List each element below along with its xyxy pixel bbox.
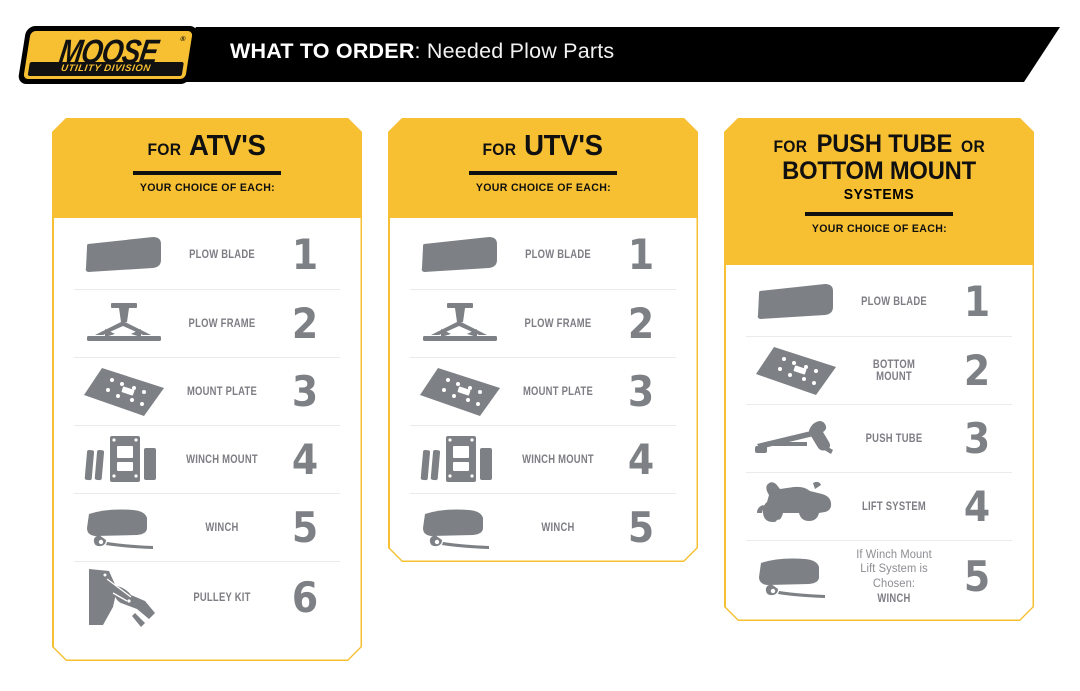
list-item-number: 2 (274, 303, 337, 345)
card-utvs-header: FOR UTV'S YOUR CHOICE OF EACH: (388, 118, 698, 218)
list-item-label: LIFT SYSTEM (855, 501, 934, 513)
list-item[interactable]: LIFT SYSTEM 4 (746, 472, 1012, 540)
list-item-label: WINCH MOUNT (519, 454, 598, 466)
list-item-number: 1 (946, 281, 1009, 323)
winch-icon (410, 506, 510, 550)
plow-frame-icon (410, 301, 510, 347)
plow-blade-icon (746, 282, 846, 322)
plow-frame-icon (74, 301, 174, 347)
card-utvs-rule (469, 171, 617, 175)
plow-blade-icon (74, 235, 174, 275)
list-item-label: MOUNT PLATE (183, 386, 262, 398)
list-item[interactable]: WINCH 5 (410, 493, 676, 561)
list-item-number: 3 (610, 371, 673, 413)
card-push-header: FOR PUSH TUBE OR BOTTOM MOUNT SYSTEMS YO… (724, 118, 1034, 265)
list-item[interactable]: WINCH MOUNT 4 (74, 425, 340, 493)
card-atvs: FOR ATV'S YOUR CHOICE OF EACH: PLOW BLAD… (52, 118, 362, 661)
card-push-heading-line3: SYSTEMS (735, 186, 1023, 203)
card-push-choice: YOUR CHOICE OF EACH: (811, 223, 946, 235)
list-item-number: 5 (274, 507, 337, 549)
card-atvs-heading: FOR ATV'S (52, 132, 362, 162)
list-item[interactable]: MOUNT PLATE 3 (74, 357, 340, 425)
list-item-label: PLOW BLADE (519, 249, 598, 261)
push-tube-icon (746, 418, 846, 460)
card-atvs-heading-main: ATV'S (189, 132, 266, 162)
card-utvs-heading-pre: FOR (482, 141, 516, 159)
list-item-number: 4 (610, 439, 673, 481)
list-item-label: PLOW FRAME (183, 318, 262, 330)
list-item-number: 5 (610, 507, 673, 549)
list-item[interactable]: PLOW BLADE 1 (74, 221, 340, 289)
mount-plate-icon (410, 366, 510, 418)
card-utvs-heading: FOR UTV'S (388, 132, 698, 162)
list-item-label: PUSH TUBE (855, 433, 934, 445)
cards-container: FOR ATV'S YOUR CHOICE OF EACH: PLOW BLAD… (0, 0, 1080, 691)
card-push-heading-line2-text: BOTTOM MOUNT (782, 159, 976, 185)
list-item[interactable]: If Winch Mount Lift System is Chosen: WI… (746, 540, 1012, 612)
card-utvs-heading-main: UTV'S (524, 132, 603, 162)
list-item-label: PLOW FRAME (519, 318, 598, 330)
infographic-page: WHAT TO ORDER: Needed Plow Parts MOOSE ®… (0, 0, 1080, 691)
list-item-label: PLOW BLADE (855, 296, 934, 308)
card-atvs-header: FOR ATV'S YOUR CHOICE OF EACH: (52, 118, 362, 218)
list-item-number: 1 (610, 234, 673, 276)
list-item-label: WINCH (519, 522, 598, 534)
list-item-label: WINCH (183, 522, 262, 534)
list-item-label: BOTTOM MOUNT (855, 359, 934, 383)
list-item[interactable]: MOUNT PLATE 3 (410, 357, 676, 425)
list-item[interactable]: WINCH MOUNT 4 (410, 425, 676, 493)
card-push-rule (805, 212, 953, 216)
card-atvs-rows: PLOW BLADE 1 PLOW FRAME 2 (74, 221, 340, 633)
lift-system-icon (746, 479, 846, 535)
card-push-heading-line1: FOR PUSH TUBE OR (724, 132, 1034, 158)
card-utvs: FOR UTV'S YOUR CHOICE OF EACH: PLOW BLAD… (388, 118, 698, 562)
list-item-label: WINCH MOUNT (183, 454, 262, 466)
card-push-heading-pre: FOR (773, 138, 807, 156)
list-item[interactable]: WINCH 5 (74, 493, 340, 561)
winch-icon (746, 555, 846, 599)
winch-mount-icon (74, 434, 174, 486)
card-push-tube-bottom-mount: FOR PUSH TUBE OR BOTTOM MOUNT SYSTEMS YO… (724, 118, 1034, 621)
card-atvs-rule (133, 171, 281, 175)
list-item-number: 5 (946, 556, 1009, 598)
card-push-heading-main: PUSH TUBE (817, 132, 953, 158)
list-item-label-group: If Winch Mount Lift System is Chosen: WI… (855, 548, 934, 605)
list-item-number: 4 (274, 439, 337, 481)
list-item[interactable]: PLOW BLADE 1 (410, 221, 676, 289)
list-item-number: 3 (946, 418, 1009, 460)
list-item[interactable]: PUSH TUBE 3 (746, 404, 1012, 472)
list-item-label: PULLEY KIT (183, 592, 262, 604)
list-item-number: 1 (274, 234, 337, 276)
list-item-label: PLOW BLADE (183, 249, 262, 261)
card-push-heading-or: OR (961, 138, 985, 156)
card-push-heading-line2: BOTTOM MOUNT (724, 159, 1034, 185)
list-item-label: MOUNT PLATE (519, 386, 598, 398)
list-item[interactable]: PLOW FRAME 2 (410, 289, 676, 357)
list-item[interactable]: PULLEY KIT 6 (74, 561, 340, 633)
list-item[interactable]: PLOW BLADE 1 (746, 268, 1012, 336)
list-item[interactable]: PLOW FRAME 2 (74, 289, 340, 357)
card-atvs-heading-pre: FOR (148, 141, 182, 159)
list-item-number: 4 (946, 486, 1009, 528)
list-item-number: 2 (946, 350, 1009, 392)
card-utvs-choice: YOUR CHOICE OF EACH: (475, 182, 610, 194)
list-item-label: WINCH (855, 593, 934, 605)
pulley-kit-icon (74, 567, 174, 629)
plow-blade-icon (410, 235, 510, 275)
winch-icon (74, 506, 174, 550)
list-item-number: 3 (274, 371, 337, 413)
card-push-rows: PLOW BLADE 1 (746, 268, 1012, 612)
mount-plate-icon (74, 366, 174, 418)
card-utvs-rows: PLOW BLADE 1 PLOW FRAME 2 (410, 221, 676, 561)
list-item-number: 2 (610, 303, 673, 345)
list-item[interactable]: BOTTOM MOUNT 2 (746, 336, 1012, 404)
card-atvs-choice: YOUR CHOICE OF EACH: (139, 182, 274, 194)
winch-mount-icon (410, 434, 510, 486)
bottom-mount-icon (746, 345, 846, 397)
list-item-caption: If Winch Mount Lift System is Chosen: (848, 548, 941, 591)
list-item-number: 6 (274, 577, 337, 619)
